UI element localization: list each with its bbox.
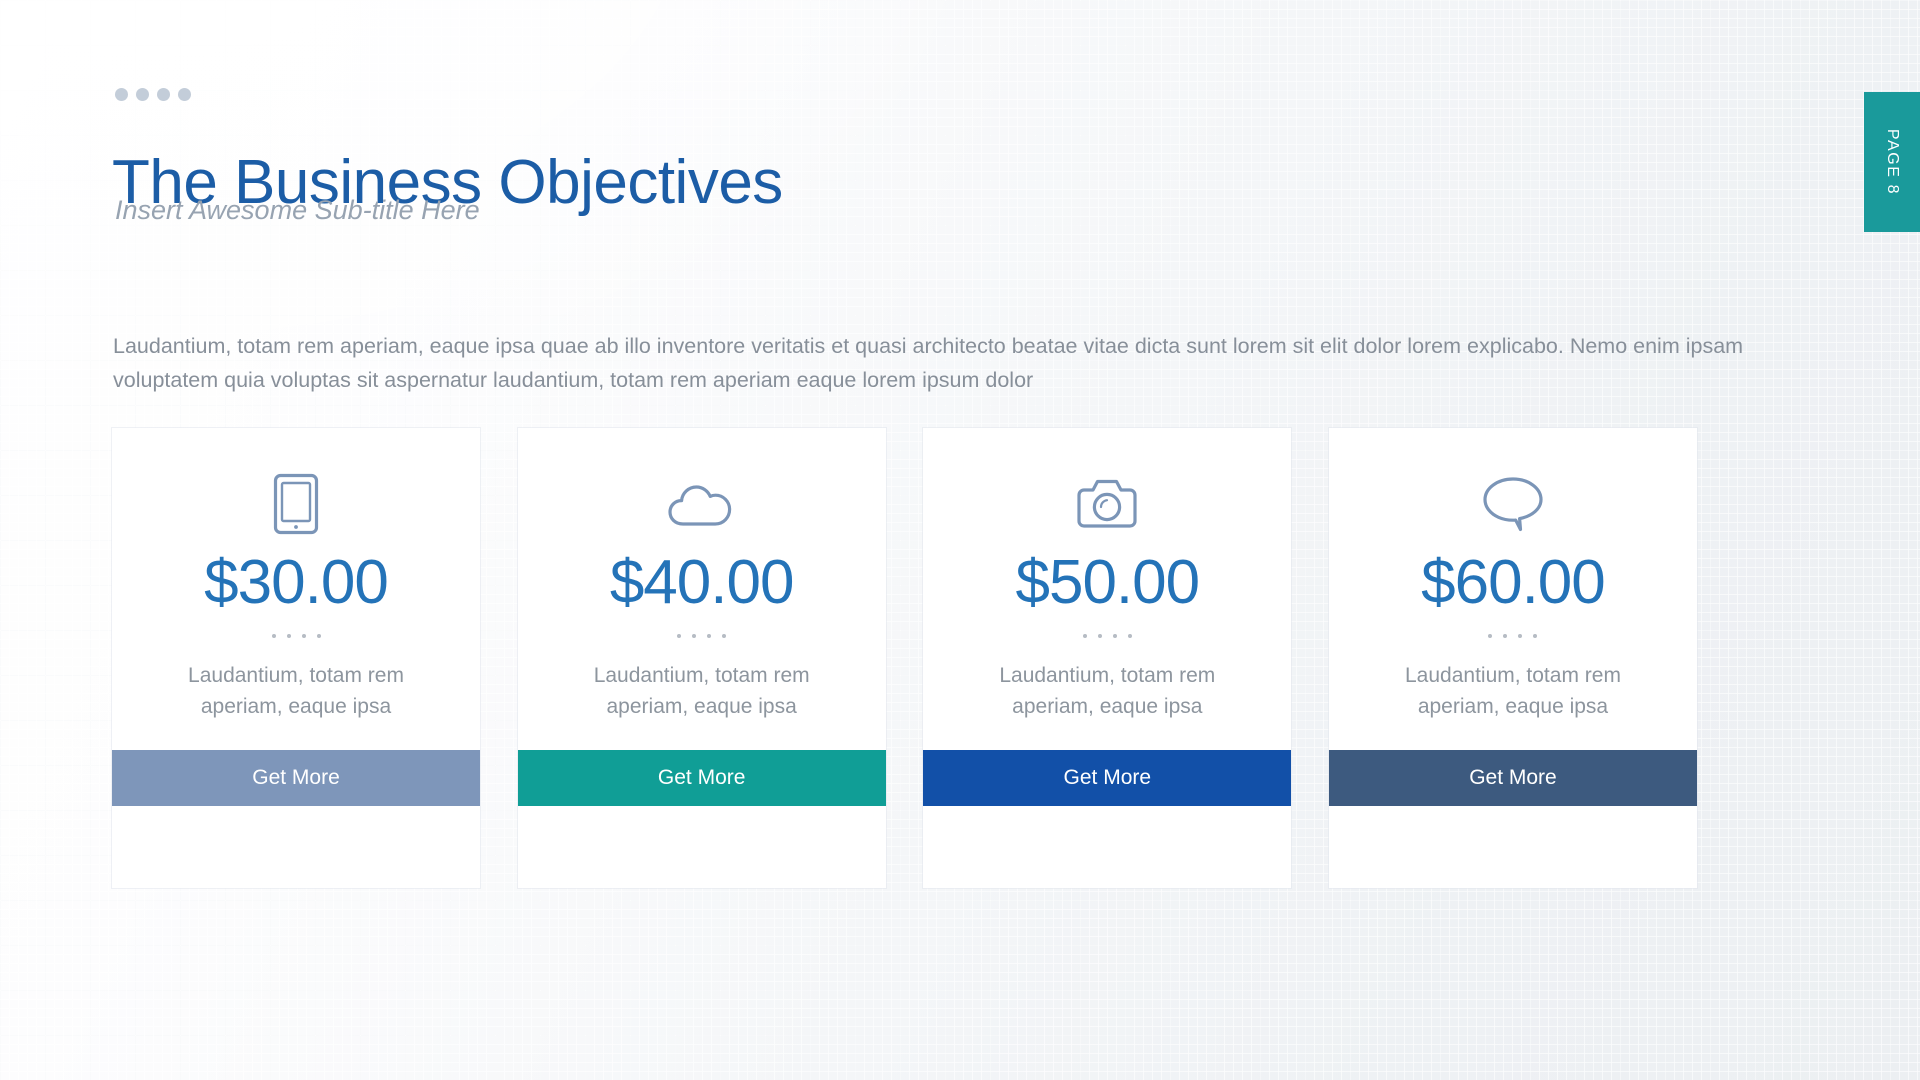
header-dot [157,88,170,101]
card-description: Laudantium, totam rem aperiam, eaque ips… [161,660,431,722]
pricing-card-list: $30.00 Laudantium, totam rem aperiam, ea… [112,428,1697,888]
get-more-button[interactable]: Get More [112,750,480,806]
card-description: Laudantium, totam rem aperiam, eaque ips… [972,660,1242,722]
card-price: $60.00 [1421,552,1605,614]
header-dot [115,88,128,101]
card-footer-spacer [518,806,886,850]
card-dot-divider [1488,634,1537,638]
card-price: $50.00 [1015,552,1199,614]
cloud-icon [667,472,737,536]
get-more-button[interactable]: Get More [923,750,1291,806]
card-description: Laudantium, totam rem aperiam, eaque ips… [1378,660,1648,722]
page-number-tab: PAGE 8 [1864,92,1920,232]
speech-bubble-icon [1482,472,1544,536]
card-price: $30.00 [204,552,388,614]
header-dots [115,88,191,101]
body-paragraph: Laudantium, totam rem aperiam, eaque ips… [113,329,1753,397]
camera-icon [1075,472,1139,536]
card-description: Laudantium, totam rem aperiam, eaque ips… [567,660,837,722]
card-price: $40.00 [610,552,794,614]
page-subtitle: Insert Awesome Sub-title Here [115,195,480,226]
pricing-card: $60.00 Laudantium, totam rem aperiam, ea… [1329,428,1697,888]
slide: The Business Objectives Insert Awesome S… [0,0,1920,1080]
card-footer-spacer [112,806,480,850]
pricing-card: $40.00 Laudantium, totam rem aperiam, ea… [518,428,886,888]
card-dot-divider [677,634,726,638]
card-dot-divider [1083,634,1132,638]
card-footer-spacer [923,806,1291,850]
page-number-label: PAGE 8 [1883,129,1901,195]
pricing-card: $30.00 Laudantium, totam rem aperiam, ea… [112,428,480,888]
card-footer-spacer [1329,806,1697,850]
get-more-button[interactable]: Get More [518,750,886,806]
header-dot [178,88,191,101]
get-more-button[interactable]: Get More [1329,750,1697,806]
tablet-icon [273,472,319,536]
header-dot [136,88,149,101]
card-dot-divider [272,634,321,638]
pricing-card: $50.00 Laudantium, totam rem aperiam, ea… [923,428,1291,888]
